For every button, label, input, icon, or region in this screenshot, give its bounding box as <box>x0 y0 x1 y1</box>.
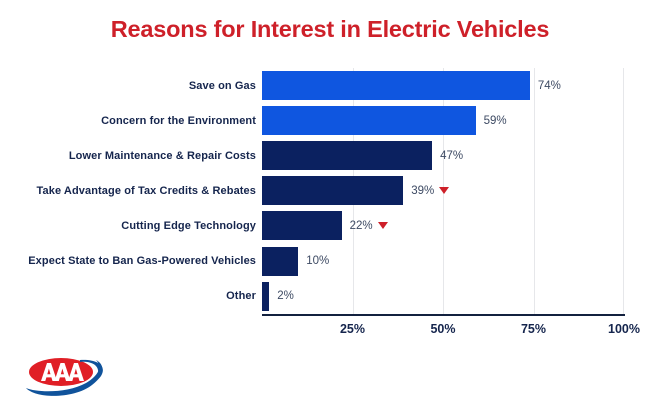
value-label: 39% <box>411 185 449 197</box>
table-row[interactable]: Lower Maintenance & Repair Costs 47% <box>0 138 660 173</box>
value-text: 10% <box>306 255 329 267</box>
bar[interactable] <box>262 247 298 276</box>
value-text: 74% <box>538 80 561 92</box>
bar-container: 10% <box>262 247 298 276</box>
value-text: 59% <box>484 115 507 127</box>
value-label: 74% <box>538 80 561 92</box>
value-text: 2% <box>277 290 294 302</box>
x-axis-ticks: 25% 50% 75% 100% <box>0 322 660 344</box>
value-label: 47% <box>440 150 463 162</box>
bar-container: 2% <box>262 282 269 311</box>
bar[interactable] <box>262 71 530 100</box>
category-label: Take Advantage of Tax Credits & Rebates <box>6 185 256 197</box>
x-tick-25: 25% <box>340 322 365 336</box>
category-label: Expect State to Ban Gas-Powered Vehicles <box>6 255 256 267</box>
table-row[interactable]: Expect State to Ban Gas-Powered Vehicles… <box>0 244 660 279</box>
bar-container: 39% <box>262 176 403 205</box>
bar[interactable] <box>262 176 403 205</box>
aaa-logo <box>18 352 114 400</box>
table-row[interactable]: Concern for the Environment 59% <box>0 103 660 138</box>
bar[interactable] <box>262 211 342 240</box>
bar-container: 22% <box>262 211 342 240</box>
x-tick-75: 75% <box>521 322 546 336</box>
bar-container: 47% <box>262 141 432 170</box>
decline-triangle-icon <box>378 222 388 229</box>
table-row[interactable]: Other 2% <box>0 279 660 314</box>
value-text: 22% <box>350 220 373 232</box>
bar-container: 74% <box>262 71 530 100</box>
category-label: Save on Gas <box>6 80 256 92</box>
decline-triangle-icon <box>439 187 449 194</box>
bar[interactable] <box>262 282 269 311</box>
category-label: Lower Maintenance & Repair Costs <box>6 150 256 162</box>
value-label: 10% <box>306 255 329 267</box>
value-label: 22% <box>350 220 388 232</box>
x-tick-100: 100% <box>608 322 640 336</box>
category-label: Concern for the Environment <box>6 115 256 127</box>
chart-card: Reasons for Interest in Electric Vehicle… <box>0 0 660 420</box>
value-text: 39% <box>411 185 434 197</box>
bar-rows: Save on Gas 74% Concern for the Environm… <box>0 68 660 314</box>
category-label: Cutting Edge Technology <box>6 220 256 232</box>
table-row[interactable]: Save on Gas 74% <box>0 68 660 103</box>
bar[interactable] <box>262 141 432 170</box>
bar-container: 59% <box>262 106 476 135</box>
value-label: 59% <box>484 115 507 127</box>
value-label: 2% <box>277 290 294 302</box>
value-text: 47% <box>440 150 463 162</box>
x-tick-50: 50% <box>430 322 455 336</box>
bar[interactable] <box>262 106 476 135</box>
category-label: Other <box>6 290 256 302</box>
chart-title: Reasons for Interest in Electric Vehicle… <box>0 16 660 43</box>
table-row[interactable]: Take Advantage of Tax Credits & Rebates … <box>0 173 660 208</box>
table-row[interactable]: Cutting Edge Technology 22% <box>0 208 660 243</box>
x-axis-line <box>262 314 625 316</box>
